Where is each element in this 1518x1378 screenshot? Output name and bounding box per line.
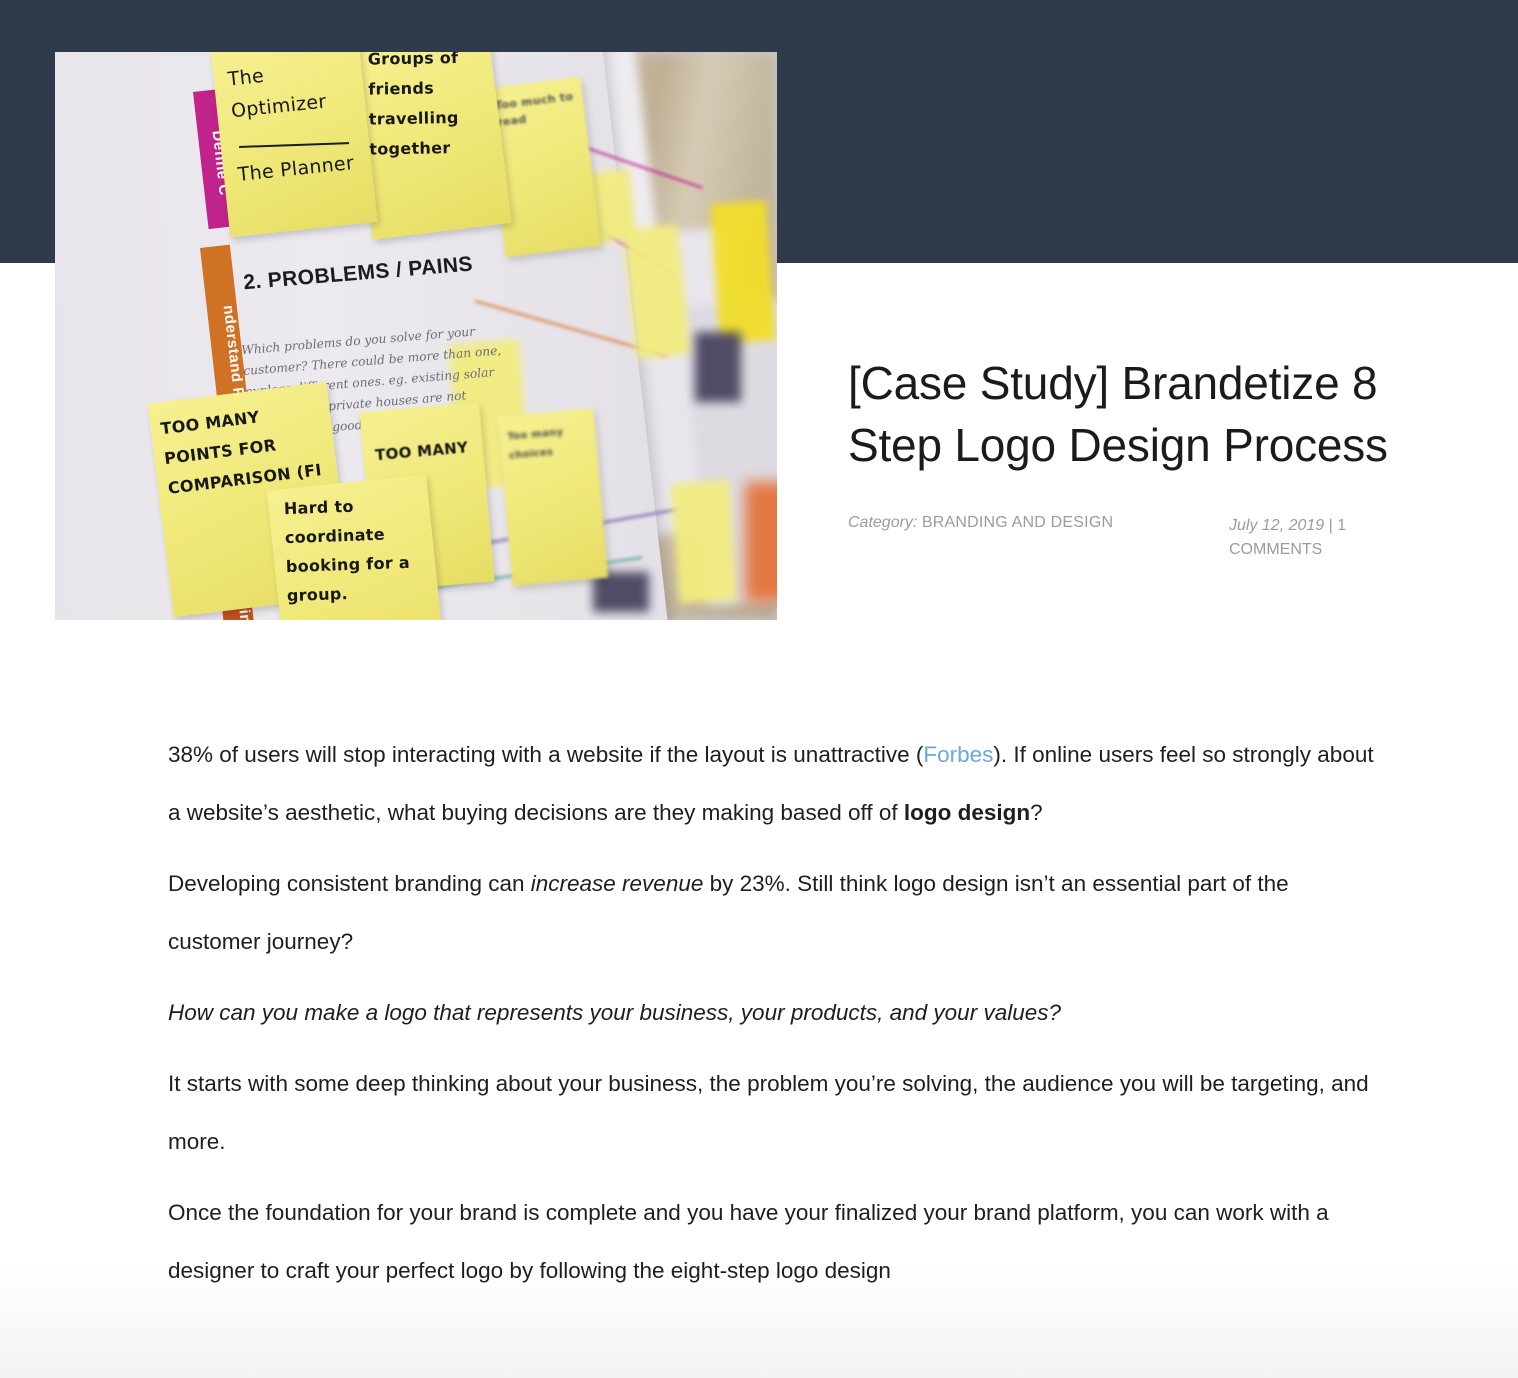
body-p1-bold: logo design [904, 800, 1030, 825]
featured-image-canvas: Define C nderstand RC on PR, tap int 2. … [55, 52, 777, 620]
blurred-orange-shape [745, 482, 777, 602]
sticky-note-hard-to-coordinate-text: Hard to coordinate booking for a group. [283, 489, 435, 610]
body-p1-text-c: ? [1030, 800, 1043, 825]
meta-comments-separator: | [1329, 517, 1333, 534]
meta-comments-label[interactable]: COMMENTS [1229, 541, 1322, 558]
meta-category-label: Category: [848, 514, 917, 531]
meta-category: Category: BRANDING AND DESIGN [848, 514, 1113, 532]
meta-date-value: July 12, 2019 [1229, 517, 1324, 534]
body-paragraph-4: It starts with some deep thinking about … [168, 1055, 1378, 1171]
body-p1-text-a: 38% of users will stop interacting with … [168, 742, 923, 767]
body-paragraph-3: How can you make a logo that represents … [168, 984, 1378, 1042]
post-meta: Category: BRANDING AND DESIGN July 12, 2… [848, 514, 1478, 574]
sticky-note-blurred-small-text: Too many choices [507, 420, 598, 466]
meta-date-comments: July 12, 2019 | 1 COMMENTS [1229, 514, 1399, 562]
forbes-link[interactable]: Forbes [923, 742, 993, 767]
sticky-note-hard-to-coordinate: Hard to coordinate booking for a group. [267, 474, 448, 620]
body-p3-italic: How can you make a logo that represents … [168, 1000, 1061, 1025]
post-header: [Case Study] Brandetize 8 Step Logo Desi… [848, 352, 1478, 574]
body-p2-italic: increase revenue [531, 871, 704, 896]
meta-category-value[interactable]: BRANDING AND DESIGN [922, 514, 1113, 531]
sticky-note-optimizer-line3: The Planner [236, 144, 356, 194]
featured-image: Define C nderstand RC on PR, tap int 2. … [55, 52, 777, 620]
body-paragraph-2: Developing consistent branding can incre… [168, 855, 1378, 971]
post-body: 38% of users will stop interacting with … [168, 726, 1378, 1300]
sticky-note-blurred-small: Too many choices [498, 408, 608, 586]
sticky-note-friends-text: Groups of friends travelling together [368, 52, 498, 165]
sticky-note-optimizer: The Optimizer The Planner [210, 52, 377, 237]
body-paragraph-1: 38% of users will stop interacting with … [168, 726, 1378, 842]
blurred-sticky-large [710, 200, 776, 344]
meta-comments-count: 1 [1337, 517, 1346, 534]
body-p2-text-a: Developing consistent branding can [168, 871, 531, 896]
blurred-sticky-6 [671, 480, 737, 604]
sticky-note-blurred-right-text: Too much to read [494, 87, 585, 131]
blurred-dark-shape-1 [695, 332, 741, 402]
page-title: [Case Study] Brandetize 8 Step Logo Desi… [848, 352, 1478, 476]
body-paragraph-5: Once the foundation for your brand is co… [168, 1184, 1378, 1300]
